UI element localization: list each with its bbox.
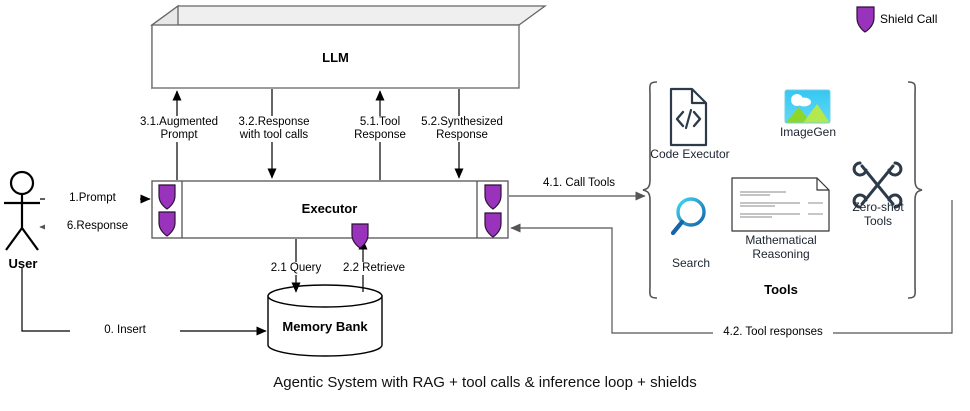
edge-label-response: 6.Response	[45, 220, 150, 233]
edge-label-augmented-prompt: 3.1.Augmented Prompt	[131, 116, 227, 142]
memory-bank-label: Memory Bank	[268, 319, 382, 334]
image-icon	[785, 90, 830, 123]
edge-label-call-tools: 4.1. Call Tools	[534, 177, 624, 190]
formula-document-icon	[732, 178, 829, 231]
edge-label-insert: 0. Insert	[70, 324, 180, 337]
tool-label-zero-shot-tools: Zero-shot Tools	[840, 200, 916, 228]
edge-insert	[22, 268, 266, 331]
shield-icon-memory	[352, 224, 368, 248]
tool-label-mathematical-reasoning: Mathematical Reasoning	[727, 233, 835, 261]
tool-label-code-executor: Code Executor	[645, 147, 735, 161]
edge-label-tool-responses: 4.2. Tool responses	[713, 326, 833, 339]
llm-node[interactable]	[152, 6, 545, 88]
user-label: User	[0, 256, 46, 271]
edge-label-query: 2.1 Query	[258, 262, 334, 275]
tool-label-search: Search	[652, 256, 730, 270]
tool-label-imagegen: ImageGen	[765, 125, 851, 139]
diagram-caption: Agentic System with RAG + tool calls & i…	[0, 374, 970, 391]
magnifier-icon	[673, 199, 704, 233]
edge-label-synthesized-response: 5.2.Synthesized Response	[410, 116, 514, 142]
edge-label-prompt: 1.Prompt	[45, 192, 140, 205]
user-node[interactable]	[4, 172, 40, 250]
edge-label-response-with-tool-calls: 3.2.Response with tool calls	[224, 116, 324, 142]
edge-label-retrieve: 2.2 Retrieve	[331, 262, 417, 275]
legend-label: Shield Call	[880, 12, 966, 26]
tools-group-label: Tools	[727, 282, 835, 297]
diagram-canvas: LLM Executor Memory Bank User 0. Insert …	[0, 0, 970, 411]
shield-icon-legend	[857, 7, 874, 32]
code-document-icon	[671, 89, 706, 145]
llm-label: LLM	[152, 50, 519, 65]
executor-label: Executor	[182, 201, 477, 216]
